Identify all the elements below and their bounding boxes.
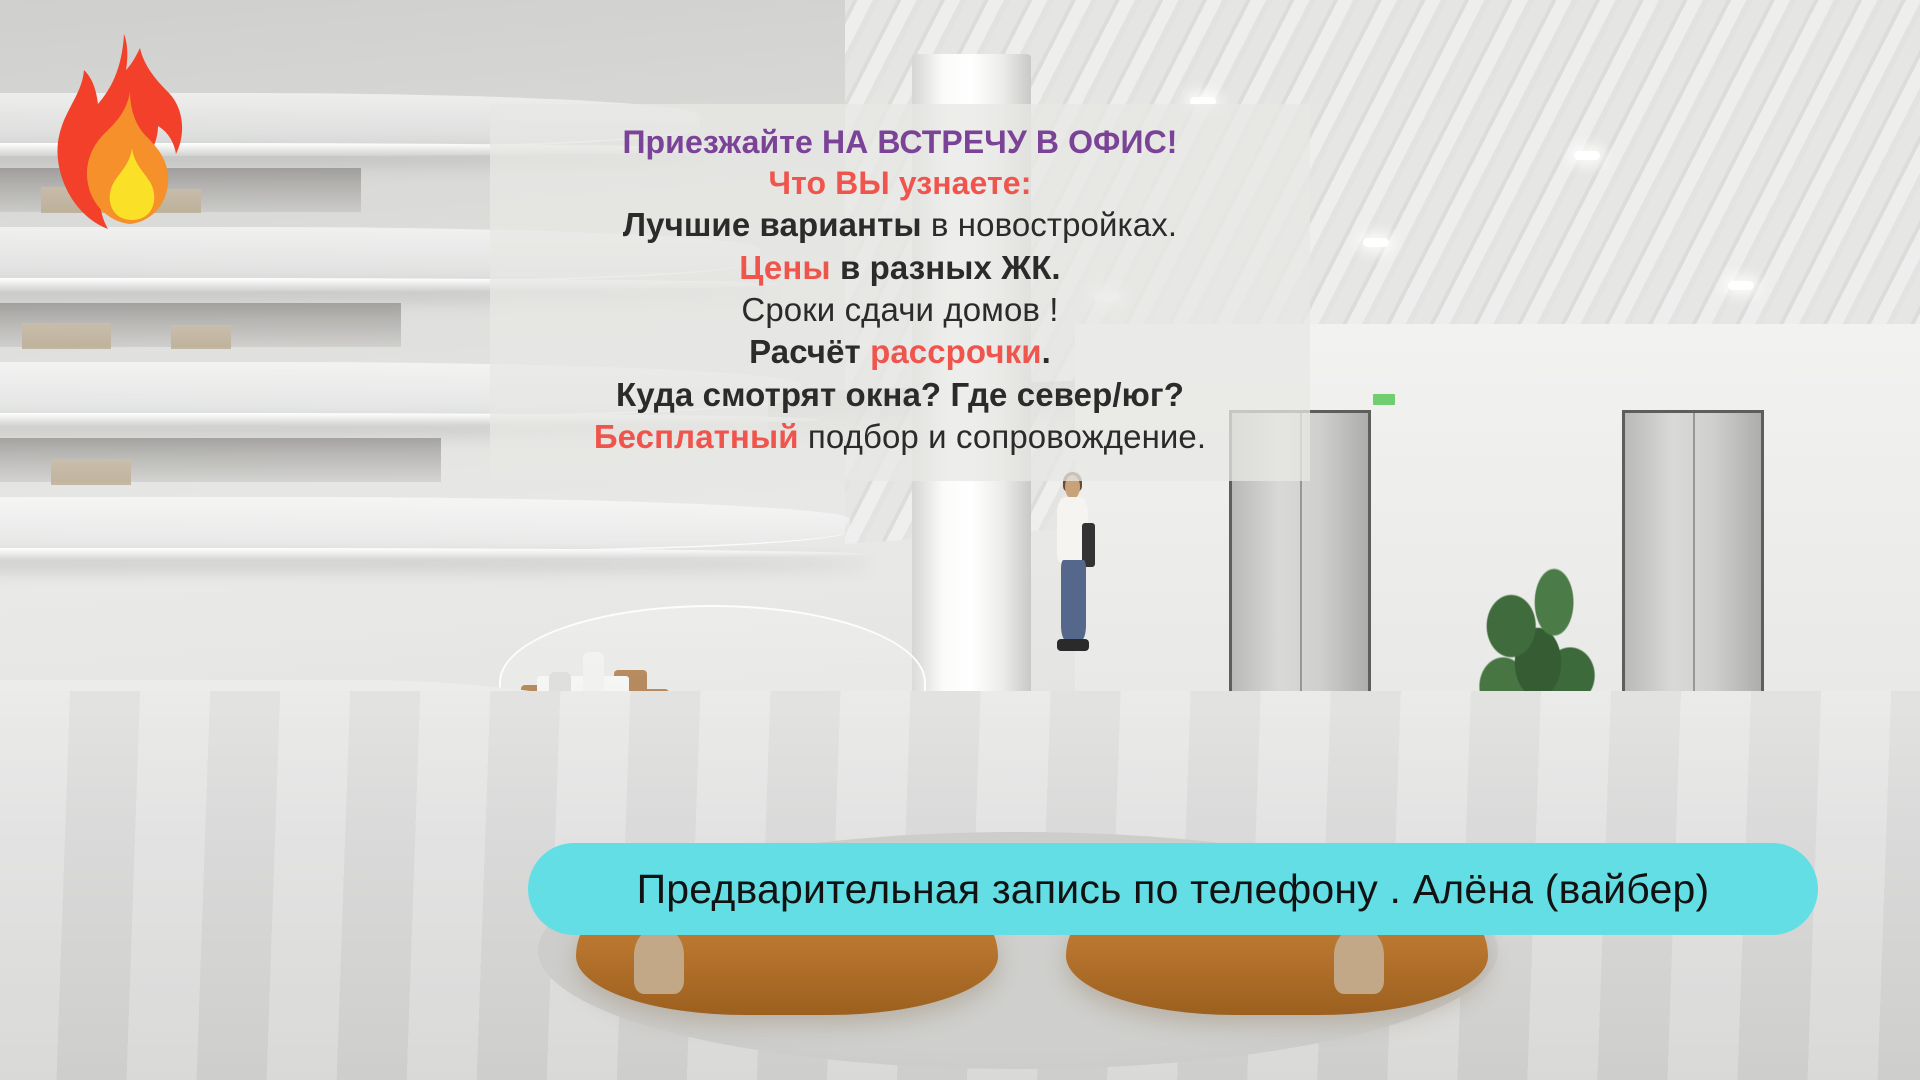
benefit-4-rest: .	[1042, 333, 1051, 370]
benefit-2-rest: в разных ЖК.	[831, 249, 1061, 286]
offer-text-panel: Приезжайте НА ВСТРЕЧУ В ОФИС! Что ВЫ узн…	[490, 104, 1310, 481]
panel-subheadline: Что ВЫ узнаете:	[500, 163, 1300, 204]
ceiling-light	[1574, 151, 1600, 160]
panel-headline: Приезжайте НА ВСТРЕЧУ В ОФИС!	[500, 122, 1300, 163]
benefit-4-strong: Расчёт	[749, 333, 870, 370]
panel-benefit-4: Расчёт рассрочки.	[500, 331, 1300, 373]
ad-banner-canvas: Приезжайте НА ВСТРЕЧУ В ОФИС! Что ВЫ узн…	[0, 0, 1920, 1080]
fire-icon	[52, 30, 192, 235]
panel-benefit-3: Сроки сдачи домов !	[500, 289, 1300, 331]
appointment-cta-banner[interactable]: Предварительная запись по телефону . Алё…	[528, 843, 1818, 935]
walking-person	[1044, 475, 1102, 659]
benefit-1-strong: Лучшие варианты	[623, 206, 922, 243]
panel-benefit-6: Бесплатный подбор и сопровождение.	[500, 416, 1300, 458]
person-shoes	[1057, 639, 1089, 652]
sofa-cushion	[634, 929, 684, 994]
exit-sign-icon	[1373, 394, 1395, 405]
appointment-cta-text: Предварительная запись по телефону . Алё…	[637, 866, 1710, 913]
wood-panel	[51, 459, 131, 485]
benefit-6-rest: подбор и сопровождение.	[799, 418, 1207, 455]
balcony-slab	[0, 548, 870, 561]
benefit-2-accent: Цены	[739, 249, 830, 286]
panel-benefit-1: Лучшие варианты в новостройках.	[500, 204, 1300, 246]
elevator-door-split	[1693, 413, 1695, 699]
ceiling-light	[1728, 281, 1754, 290]
sofa-cushion	[1334, 929, 1384, 994]
wood-panel	[171, 325, 231, 349]
benefit-4-accent: рассрочки	[870, 333, 1042, 370]
panel-benefit-5: Куда смотрят окна? Где север/юг?	[500, 374, 1300, 416]
wood-panel	[22, 323, 112, 349]
ceiling-light	[1363, 238, 1389, 247]
panel-benefit-2: Цены в разных ЖК.	[500, 247, 1300, 289]
elevator-door	[1622, 410, 1764, 702]
person-legs	[1061, 560, 1086, 641]
benefit-1-rest: в новостройках.	[922, 206, 1178, 243]
benefit-6-accent: Бесплатный	[594, 418, 799, 455]
glass-railing	[0, 497, 850, 553]
